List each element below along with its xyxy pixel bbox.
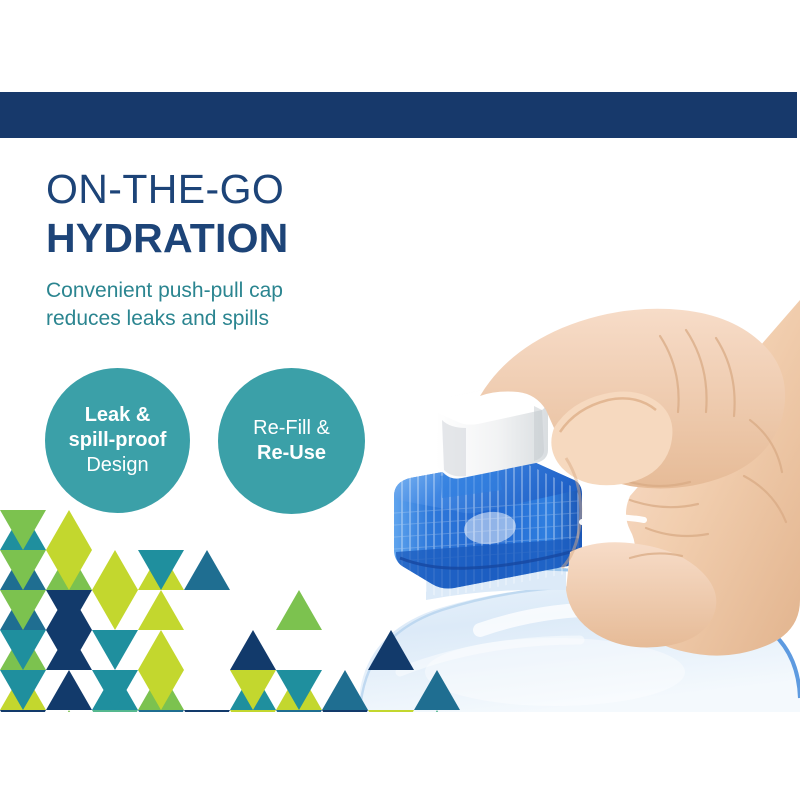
top-navy-bar <box>0 92 797 138</box>
mosaic-triangle <box>414 670 460 710</box>
mosaic-triangle <box>138 590 184 630</box>
mosaic-triangle <box>368 630 414 670</box>
subheadline-line-1: Convenient push-pull cap <box>46 277 426 305</box>
mosaic-triangle <box>138 630 184 670</box>
mosaic-triangle <box>92 590 138 630</box>
subheadline-line-2: reduces leaks and spills <box>46 305 426 333</box>
badge-1-line-2: spill-proof <box>69 428 167 453</box>
mosaic-triangle <box>46 510 92 550</box>
badge-refill-reuse-text: Re-Fill & Re-Use <box>253 416 330 466</box>
triangle-mosaic-svg <box>0 470 480 712</box>
bottom-white-margin <box>0 712 800 800</box>
mosaic-triangle <box>322 670 368 710</box>
badge-2-line-2: Re-Use <box>253 441 330 466</box>
mosaic-triangle <box>184 550 230 590</box>
mosaic-triangle <box>46 670 92 710</box>
mosaic-triangle <box>230 630 276 670</box>
badge-1-line-1: Leak & <box>69 403 167 428</box>
mosaic-triangle <box>276 590 322 630</box>
content-panel: ON-THE-GO HYDRATION Convenient push-pull… <box>0 0 800 712</box>
mosaic-triangle <box>92 550 138 590</box>
badge-leak-spill-proof-text: Leak & spill-proof Design <box>69 403 167 478</box>
mosaic-triangle <box>92 630 138 670</box>
promo-graphic: ON-THE-GO HYDRATION Convenient push-pull… <box>0 0 800 800</box>
triangle-mosaic-pattern <box>0 470 480 712</box>
headline-line-1: ON-THE-GO <box>46 166 466 213</box>
headline-block: ON-THE-GO HYDRATION <box>46 166 466 263</box>
subheadline-block: Convenient push-pull cap reduces leaks a… <box>46 277 426 333</box>
headline-line-2: HYDRATION <box>46 213 466 263</box>
badge-2-line-1: Re-Fill & <box>253 416 330 441</box>
